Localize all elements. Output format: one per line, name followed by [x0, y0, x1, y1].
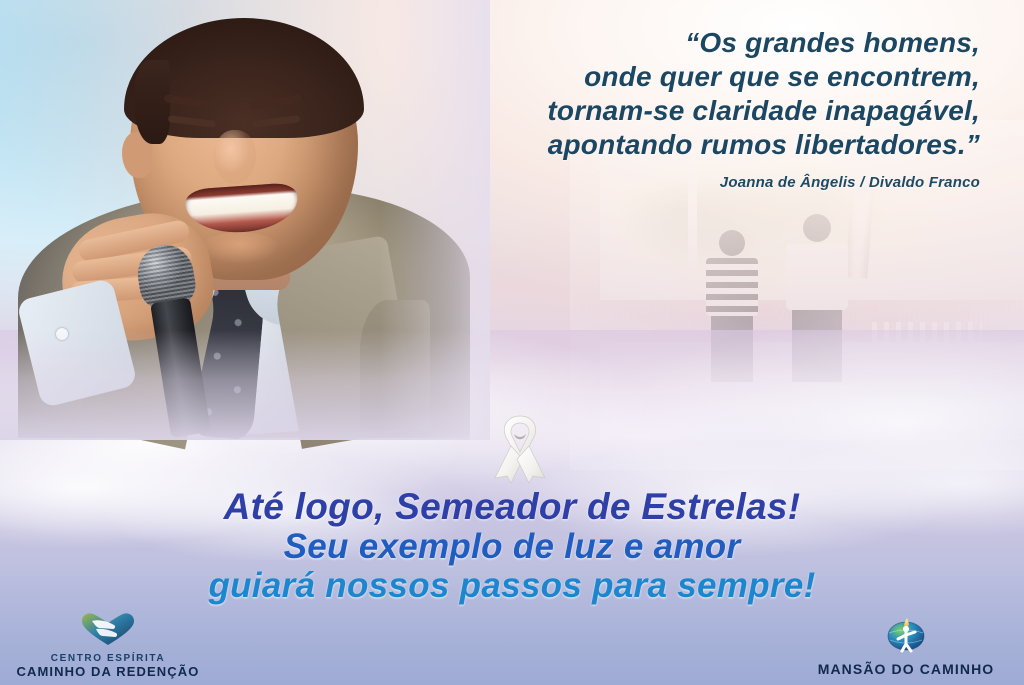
quote-line-1: “Os grandes homens, [360, 26, 980, 60]
quote-line-4: apontando rumos libertadores.” [360, 128, 980, 162]
globe-figure-flame-logo-icon [796, 615, 1016, 658]
poster-canvas: “Os grandes homens, onde quer que se enc… [0, 0, 1024, 685]
logo-left-line-2: CAMINHO DA REDENÇÃO [8, 664, 208, 679]
heart-hands-logo-icon [8, 612, 208, 651]
headline-block: Até logo, Semeador de Estrelas! Seu exem… [0, 486, 1024, 605]
quote-block: “Os grandes homens, onde quer que se enc… [360, 26, 980, 191]
logo-centro-espirita: CENTRO ESPÍRITA CAMINHO DA REDENÇÃO [8, 612, 208, 679]
logo-left-line-1: CENTRO ESPÍRITA [8, 653, 208, 664]
quote-line-3: tornam-se claridade inapagável, [360, 94, 980, 128]
white-awareness-ribbon-icon [487, 412, 553, 484]
headline-line-2: Seu exemplo de luz e amor [0, 527, 1024, 566]
portrait-hair [124, 18, 364, 138]
logo-right-line-1: MANSÃO DO CAMINHO [796, 661, 1016, 677]
quote-attribution: Joanna de Ângelis / Divaldo Franco [360, 174, 980, 191]
headline-line-1: Até logo, Semeador de Estrelas! [0, 486, 1024, 527]
headline-line-3: guiará nossos passos para sempre! [0, 566, 1024, 605]
portrait-nose [214, 130, 256, 184]
logo-mansao-do-caminho: MANSÃO DO CAMINHO [796, 615, 1016, 677]
quote-line-2: onde quer que se encontrem, [360, 60, 980, 94]
